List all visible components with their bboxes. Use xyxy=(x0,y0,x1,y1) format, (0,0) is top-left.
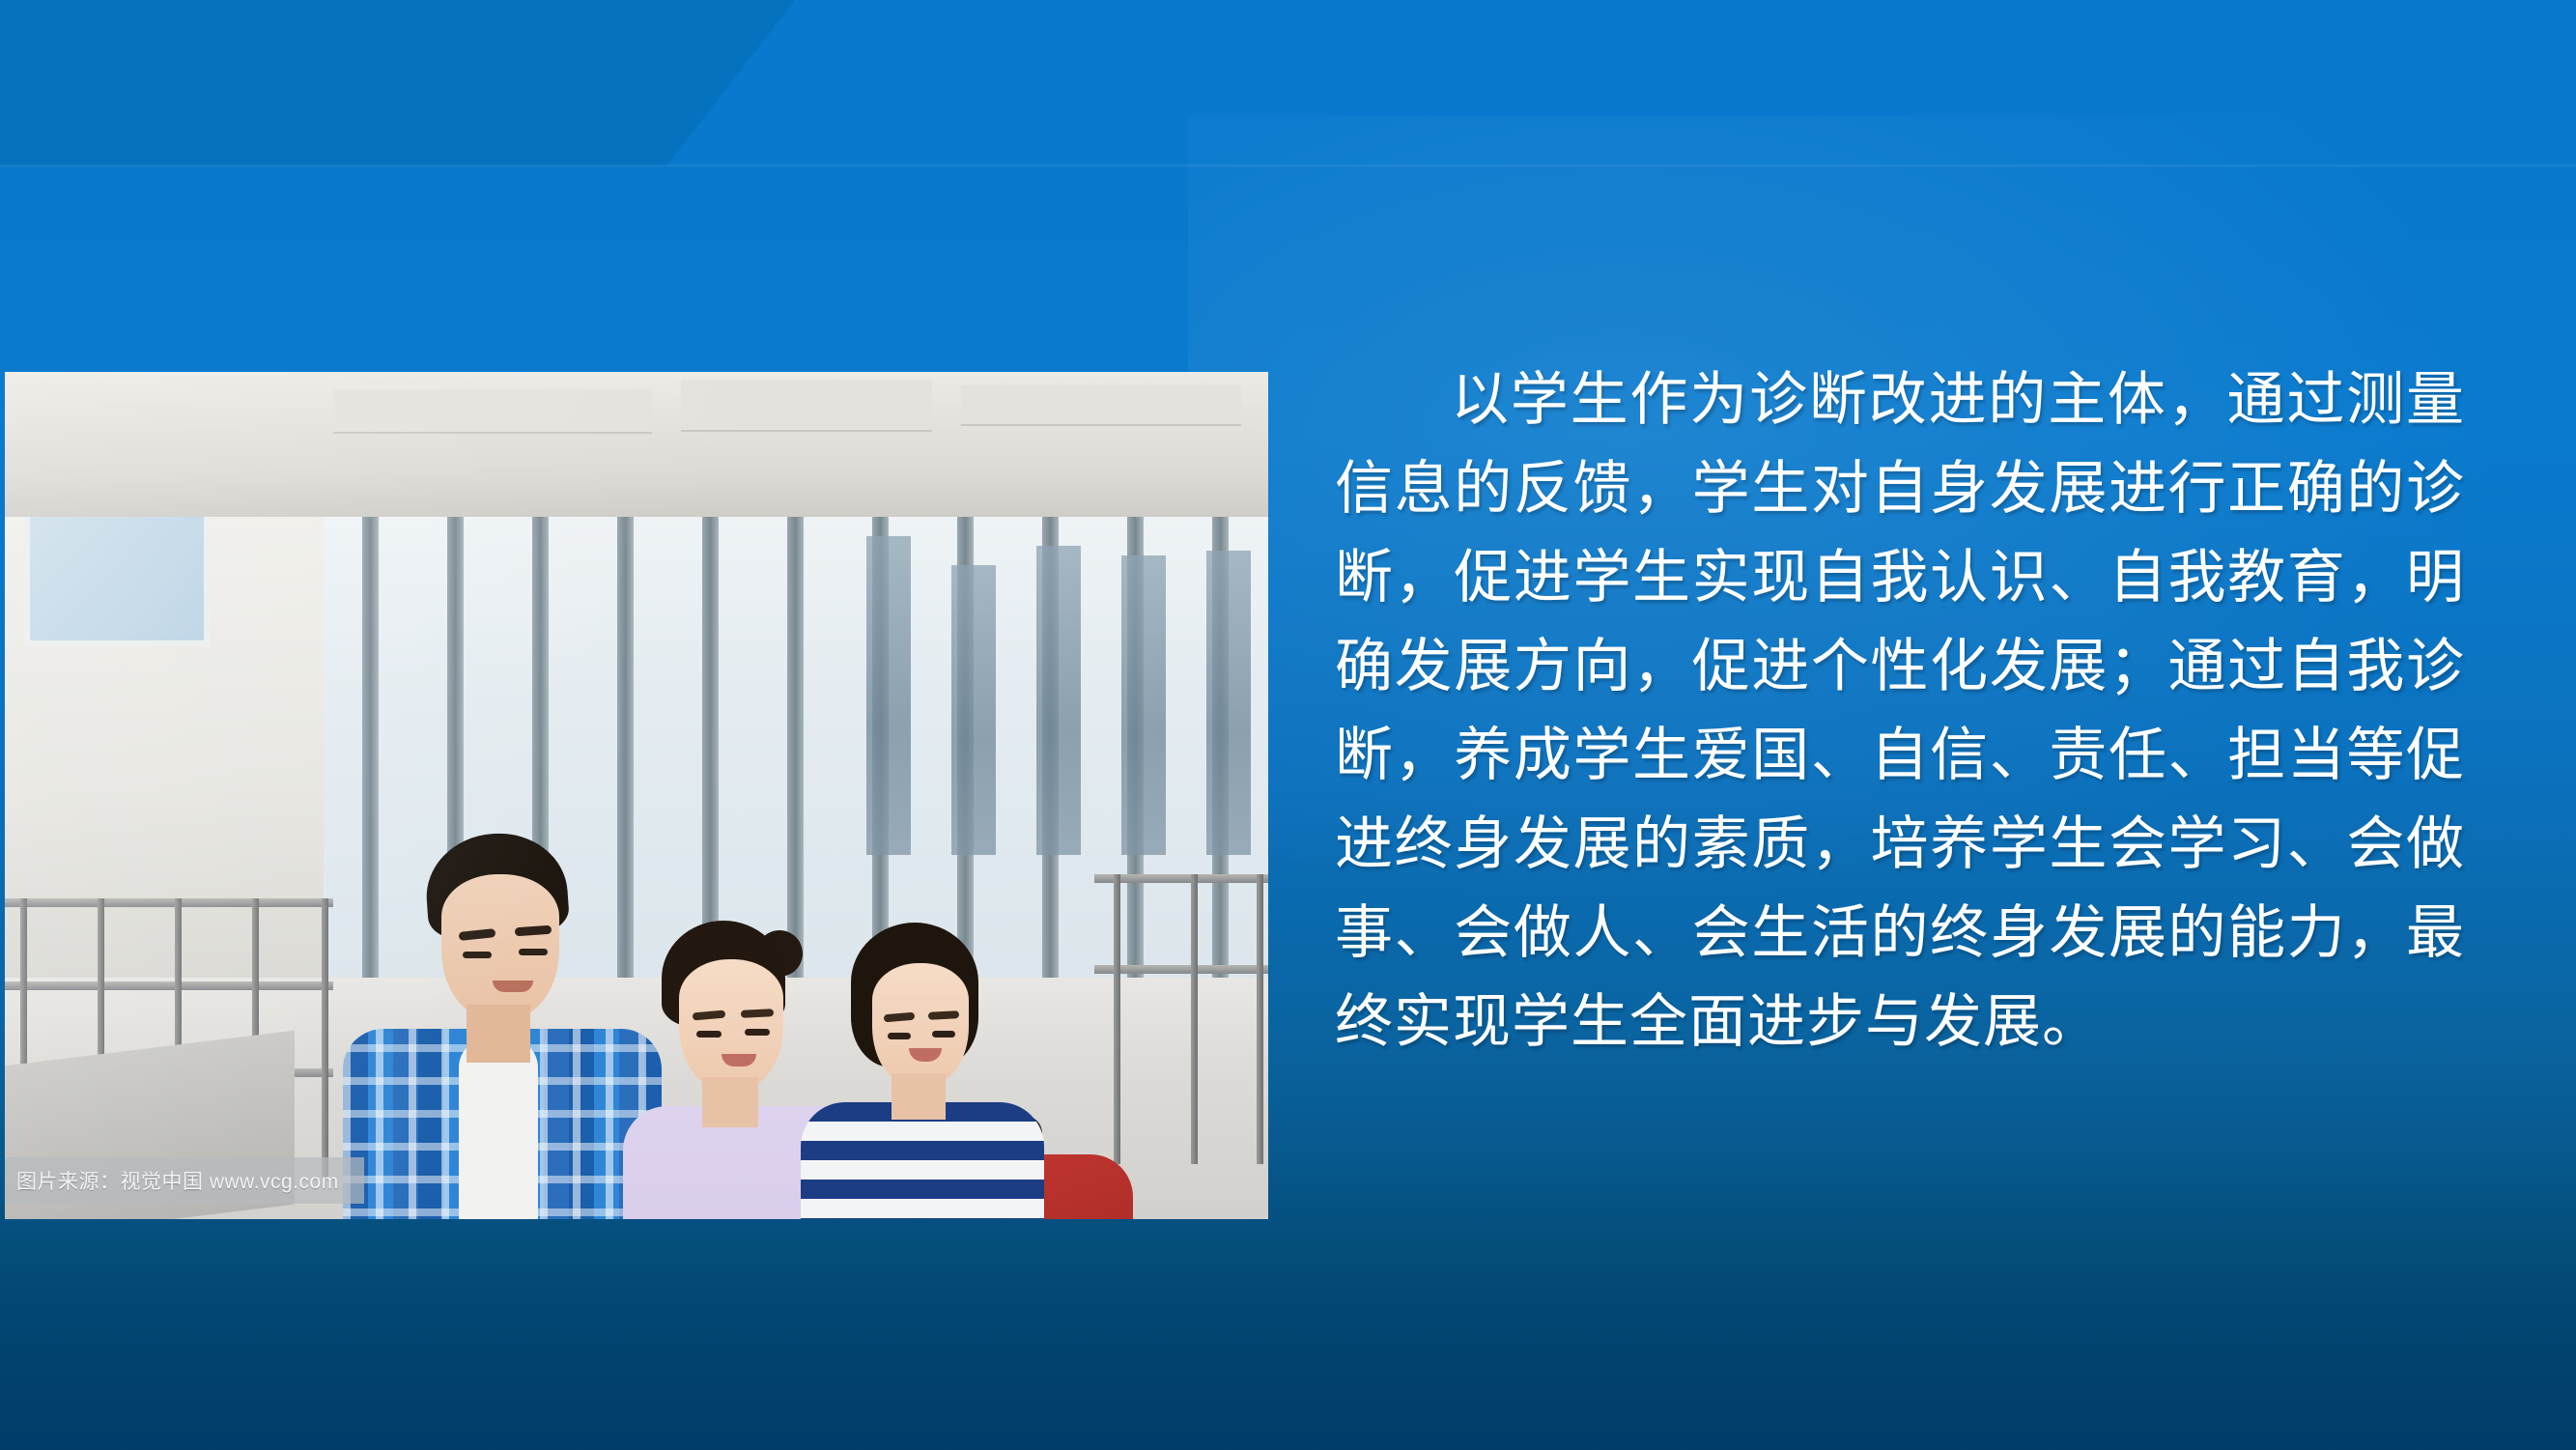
students-photo: 图片来源：视觉中国 www.vcg.com xyxy=(5,372,1268,1219)
body-paragraph: 以学生作为诊断改进的主体，通过测量信息的反馈，学生对自身发展进行正确的诊断，促进… xyxy=(1335,355,2465,1066)
body-paragraph-block: 以学生作为诊断改进的主体，通过测量信息的反馈，学生对自身发展进行正确的诊断，促进… xyxy=(1335,355,2465,1066)
photo-scene xyxy=(5,372,1268,1219)
top-accent-band xyxy=(0,0,2576,166)
header-divider-line xyxy=(0,164,2576,167)
image-source-watermark: 图片来源：视觉中国 www.vcg.com xyxy=(5,1157,364,1204)
corridor-ceiling xyxy=(5,372,1268,517)
presentation-slide: 图片来源：视觉中国 www.vcg.com 以学生作为诊断改进的主体，通过测量信… xyxy=(0,0,2576,1450)
right-railing xyxy=(1094,874,1268,1193)
